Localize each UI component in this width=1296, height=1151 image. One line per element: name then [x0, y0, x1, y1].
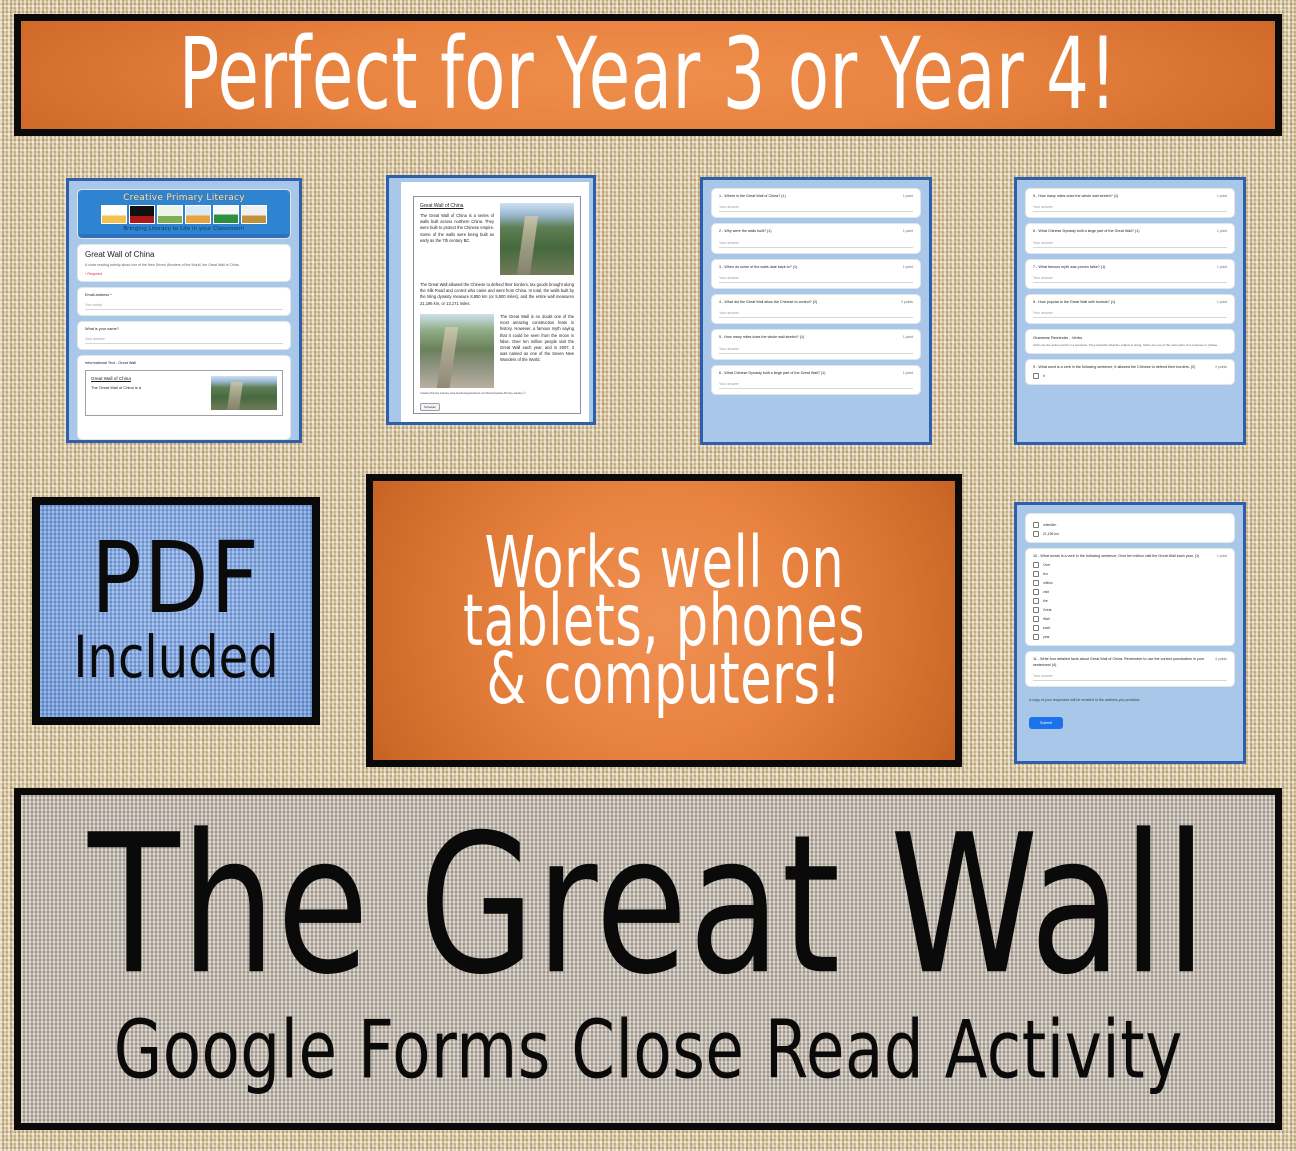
question-text: 2 - Why were the walls built? (1): [719, 229, 771, 234]
answer-input[interactable]: Your answer: [719, 311, 913, 318]
grammar-reminder-text: Verbs are the action words in a sentence…: [1033, 343, 1227, 348]
checkbox-icon[interactable]: [1033, 571, 1039, 577]
passage-paragraph-1: The Great Wall of China is a series of w…: [420, 213, 494, 244]
checkbox-label: year: [1043, 635, 1050, 639]
checkbox-icon[interactable]: [1033, 580, 1039, 586]
questions-list-3: miles/km21,196 km10 - What words is a ve…: [1025, 513, 1235, 761]
checkbox-label: each: [1043, 626, 1050, 630]
checkbox-label: ten: [1043, 572, 1048, 576]
thumbnail-questions-10-11-submit[interactable]: miles/km21,196 km10 - What words is a ve…: [1014, 502, 1246, 764]
email-field-label: Email address *: [85, 293, 283, 297]
email-input[interactable]: Your email: [85, 303, 283, 310]
checkbox-option[interactable]: Wall: [1033, 616, 1227, 622]
checkbox-option[interactable]: year: [1033, 634, 1227, 640]
answer-input[interactable]: Your answer: [719, 241, 913, 248]
checkbox-icon[interactable]: [1033, 373, 1039, 379]
checkbox-label: 21,196 km: [1043, 532, 1059, 536]
checkbox-option[interactable]: visit: [1033, 589, 1227, 595]
checkbox-label: million: [1043, 581, 1053, 585]
checkbox-icon[interactable]: [1033, 522, 1039, 528]
schedule-button[interactable]: Schedule: [420, 403, 440, 411]
embedded-text: The Great Wall of China is a: [91, 385, 206, 391]
passage-heading: Great Wall of China: [420, 203, 494, 209]
product-subtitle: Google Forms Close Read Activity: [113, 1010, 1182, 1091]
creative-primary-literacy-banner: Creative Primary Literacy Bringing Liter…: [78, 190, 290, 234]
required-note: * Required: [85, 272, 283, 276]
question-10-card[interactable]: 10 - What words is a verb in the followi…: [1025, 548, 1235, 646]
passage-paragraph-3: The Great Wall is no doubt one of the mo…: [500, 314, 574, 388]
great-wall-photo-top: [500, 203, 574, 275]
question-text: 6 - What Chinese Dynasty built a large p…: [1033, 229, 1139, 234]
checkbox-option[interactable]: Great: [1033, 607, 1227, 613]
form-title: Great Wall of China: [85, 250, 283, 259]
checkbox-option[interactable]: it: [1033, 373, 1227, 379]
answer-input[interactable]: Your answer: [1033, 311, 1227, 318]
answer-input[interactable]: Your answer: [1033, 205, 1227, 212]
great-wall-photo: [211, 376, 277, 410]
checkbox-option[interactable]: 21,196 km: [1033, 531, 1227, 537]
embedded-document: Great Wall of China The Great Wall of Ch…: [85, 370, 283, 416]
question-points: 4 points: [1215, 657, 1227, 661]
submit-row: Submit: [1025, 711, 1235, 729]
passage-page: Great Wall of China The Great Wall of Ch…: [401, 182, 589, 422]
cpl-thumb-5: [213, 205, 239, 224]
checkbox-icon[interactable]: [1033, 625, 1039, 631]
answer-input[interactable]: Your answer: [1033, 674, 1227, 681]
questions-list-1: 1 - Where is the Great Wall of China? (1…: [711, 188, 921, 442]
cpl-thumb-4: [185, 205, 211, 224]
checkbox-label: Great: [1043, 608, 1051, 612]
question-card[interactable]: 5 - How many miles does the whole wall s…: [711, 329, 921, 359]
email-field-card[interactable]: Email address * Your email: [77, 287, 291, 316]
checkbox-label: it: [1043, 374, 1045, 378]
answer-input[interactable]: Your answer: [719, 347, 913, 354]
question-text: 7 - What famous myth was proven false? (…: [1033, 265, 1105, 270]
passage-credit: Creative Primary Literacy www.teacherspa…: [420, 392, 574, 395]
works-line-3: & computers!: [486, 640, 841, 717]
checkbox-icon[interactable]: [1033, 607, 1039, 613]
continued-options-card[interactable]: miles/km21,196 km: [1025, 513, 1235, 543]
question-text: 3 - When do some of the walls date back …: [719, 265, 797, 270]
question-card[interactable]: 4 - What did the Great Wall allow the Ch…: [711, 294, 921, 324]
checkbox-label: Over: [1043, 563, 1050, 567]
pdf-label: PDF: [91, 533, 261, 624]
question-points: 1 point: [903, 335, 913, 339]
section-label: Informational Text - Great Wall: [85, 361, 283, 365]
top-banner: Perfect for Year 3 or Year 4!: [14, 14, 1282, 136]
checkbox-icon[interactable]: [1033, 589, 1039, 595]
question-points: 1 point: [903, 265, 913, 269]
pdf-included-badge: PDF Included: [32, 497, 320, 725]
question-text: 1 - Where is the Great Wall of China? (1…: [719, 194, 786, 199]
question-points: 1 point: [903, 229, 913, 233]
answer-input[interactable]: Your answer: [719, 205, 913, 212]
checkbox-option[interactable]: Over: [1033, 562, 1227, 568]
thumbnail-reading-passage[interactable]: Great Wall of China The Great Wall of Ch…: [386, 175, 596, 425]
checkbox-label: Wall: [1043, 617, 1049, 621]
question-card[interactable]: 7 - What famous myth was proven false? (…: [1025, 259, 1235, 289]
question-points: 2 points: [901, 300, 913, 304]
checkbox-label: the: [1043, 599, 1048, 603]
question-card[interactable]: 5 - How many miles does the whole wall s…: [1025, 188, 1235, 218]
question-text: 11 - Write four detailed facts about Gre…: [1033, 657, 1211, 668]
email-copy-note: A copy of your responses will be emailed…: [1025, 692, 1235, 706]
answer-input[interactable]: Your answer: [1033, 276, 1227, 283]
question-points: 1 point: [903, 194, 913, 198]
question-text: 9 - What word is a verb in the following…: [1033, 365, 1195, 370]
question-card[interactable]: 1 - Where is the Great Wall of China? (1…: [711, 188, 921, 218]
top-banner-text: Perfect for Year 3 or Year 4!: [179, 26, 1117, 125]
checkbox-icon[interactable]: [1033, 634, 1039, 640]
question-points: 2 points: [1215, 365, 1227, 369]
question-points: 1 point: [903, 371, 913, 375]
checkbox-label: miles/km: [1043, 523, 1056, 527]
form-header-card: Creative Primary Literacy Bringing Liter…: [77, 189, 291, 239]
cpl-thumb-2: [129, 205, 155, 224]
grammar-reminder-heading: Grammar Reminder - Verbs: [1033, 335, 1227, 340]
answer-input[interactable]: Your answer: [1033, 241, 1227, 248]
question-points: 1 point: [1217, 265, 1227, 269]
cpl-title: Creative Primary Literacy: [82, 193, 286, 203]
checkbox-option[interactable]: the: [1033, 598, 1227, 604]
question-card[interactable]: 2 - Why were the walls built? (1)1 point…: [711, 223, 921, 253]
works-well-panel: Works well on tablets, phones & computer…: [366, 474, 962, 767]
name-field-label: What is your name?: [85, 327, 283, 331]
thumbnail-questions-1-6[interactable]: 1 - Where is the Great Wall of China? (1…: [700, 177, 932, 445]
checkbox-option[interactable]: million: [1033, 580, 1227, 586]
question-points: 1 point: [1217, 229, 1227, 233]
checkbox-icon[interactable]: [1033, 562, 1039, 568]
cpl-tagline: Bringing Literacy to Life in your Classr…: [82, 226, 286, 232]
pdf-included-label: Included: [73, 629, 278, 687]
checkbox-label: visit: [1043, 590, 1049, 594]
checkbox-icon[interactable]: [1033, 598, 1039, 604]
questions-list-2: 5 - How many miles does the whole wall s…: [1025, 188, 1235, 442]
form-description: A close reading activity about one of th…: [85, 263, 283, 268]
thumbnail-1-content: Creative Primary Literacy Bringing Liter…: [77, 189, 291, 440]
question-points: 1 point: [1217, 194, 1227, 198]
checkbox-option[interactable]: miles/km: [1033, 522, 1227, 528]
name-field-card[interactable]: What is your name? Your answer: [77, 321, 291, 350]
embedded-heading: Great Wall of China: [91, 376, 206, 381]
question-text: 6 - What Chinese Dynasty built a large p…: [719, 371, 825, 376]
question-points: 1 point: [1217, 300, 1227, 304]
cpl-thumb-1: [101, 205, 127, 224]
thumbnail-form-cover[interactable]: Creative Primary Literacy Bringing Liter…: [66, 178, 302, 443]
name-input[interactable]: Your answer: [85, 337, 283, 344]
verb-question-card[interactable]: 9 - What word is a verb in the following…: [1025, 359, 1235, 385]
answer-input[interactable]: Your answer: [719, 276, 913, 283]
question-text: 10 - What words is a verb in the followi…: [1033, 554, 1199, 559]
bottom-title-banner: The Great Wall Google Forms Close Read A…: [14, 788, 1282, 1130]
grammar-reminder-card: Grammar Reminder - VerbsVerbs are the ac…: [1025, 329, 1235, 354]
question-text: 4 - What did the Great Wall allow the Ch…: [719, 300, 817, 305]
answer-input[interactable]: Your answer: [719, 382, 913, 389]
thumbnail-questions-5-9[interactable]: 5 - How many miles does the whole wall s…: [1014, 177, 1246, 445]
form-accent-bar: [78, 234, 290, 238]
question-card[interactable]: 8 - How popular is the Great Wall with t…: [1025, 294, 1235, 324]
question-card[interactable]: 6 - What Chinese Dynasty built a large p…: [711, 365, 921, 395]
question-text: 5 - How many miles does the whole wall s…: [719, 335, 804, 340]
question-points: 1 point: [1217, 554, 1227, 558]
passage-document: Great Wall of China The Great Wall of Ch…: [413, 196, 581, 414]
question-text: 8 - How popular is the Great Wall with t…: [1033, 300, 1115, 305]
question-card[interactable]: 6 - What Chinese Dynasty built a large p…: [1025, 223, 1235, 253]
checkbox-icon[interactable]: [1033, 616, 1039, 622]
checkbox-option[interactable]: each: [1033, 625, 1227, 631]
product-title: The Great Wall: [88, 818, 1208, 995]
cpl-thumb-3: [157, 205, 183, 224]
question-11-card[interactable]: 11 - Write four detailed facts about Gre…: [1025, 651, 1235, 687]
question-text: 5 - How many miles does the whole wall s…: [1033, 194, 1118, 199]
submit-button[interactable]: Submit: [1029, 717, 1063, 729]
checkbox-option[interactable]: ten: [1033, 571, 1227, 577]
checkbox-icon[interactable]: [1033, 531, 1039, 537]
question-card[interactable]: 3 - When do some of the walls date back …: [711, 259, 921, 289]
great-wall-photo-bottom: [420, 314, 494, 388]
cpl-thumb-6: [241, 205, 267, 224]
informational-text-card: Informational Text - Great Wall Great Wa…: [77, 355, 291, 440]
cpl-product-thumbnails: [82, 205, 286, 224]
passage-paragraph-2: The Great Wall allowed the Chinese to de…: [420, 282, 574, 307]
form-title-card: Great Wall of China A close reading acti…: [77, 244, 291, 282]
